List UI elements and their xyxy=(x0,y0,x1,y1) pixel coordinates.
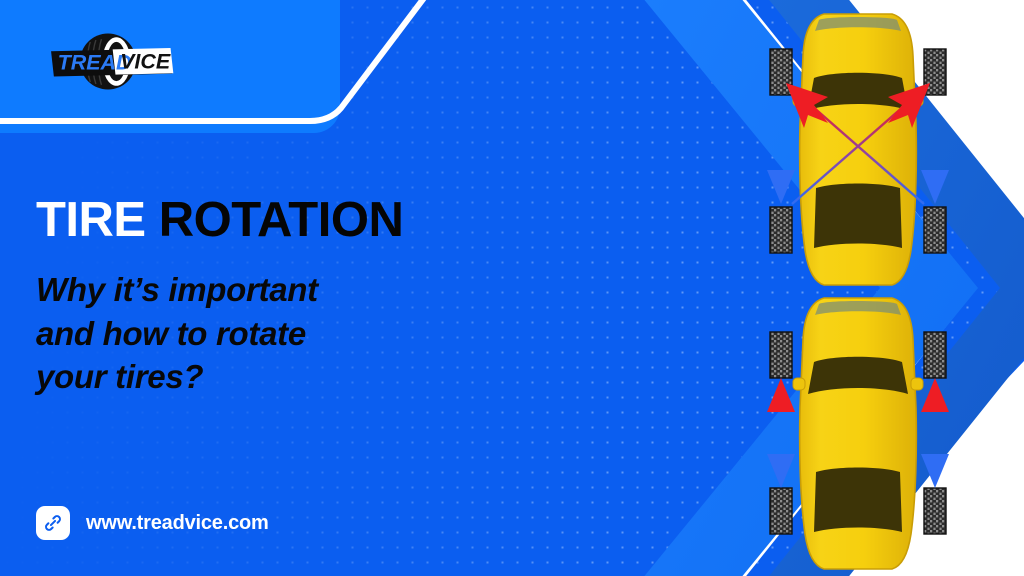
subtitle-line-1: Why it’s important xyxy=(36,268,476,312)
tire-rear-left xyxy=(770,207,792,253)
tire-rear-left xyxy=(770,488,792,534)
diagram-crossed-rotation xyxy=(762,4,1024,292)
page-subtitle: Why it’s important and how to rotate you… xyxy=(36,268,476,399)
tire-front-right xyxy=(924,332,946,378)
link-chain-icon xyxy=(36,506,70,540)
title-word-rotation: ROTATION xyxy=(159,193,404,247)
arrow-right-double-headed xyxy=(921,378,949,488)
brand-logo[interactable]: TREAD VICE xyxy=(38,26,178,98)
poster-canvas: TREAD VICE TIRE ROTATION Why it’s import… xyxy=(0,0,1024,576)
subtitle-line-3: your tires? xyxy=(36,355,476,399)
footer-website[interactable]: www.treadvice.com xyxy=(36,506,269,540)
page-title: TIRE ROTATION xyxy=(36,196,403,245)
car-top-view xyxy=(793,14,923,285)
car-top-view xyxy=(793,298,923,569)
arrow-right-straight-down xyxy=(921,96,949,204)
tire-rear-right xyxy=(924,488,946,534)
arrow-left-double-headed xyxy=(767,378,795,488)
arrow-left-straight-down xyxy=(767,96,795,204)
logo-text-vice: VICE xyxy=(120,50,171,74)
tire-rear-right xyxy=(924,207,946,253)
diagram-front-to-back-rotation xyxy=(762,290,1024,576)
tire-front-left xyxy=(770,332,792,378)
logo-wordmark: TREAD VICE xyxy=(51,48,173,76)
website-url-text: www.treadvice.com xyxy=(86,512,269,535)
subtitle-line-2: and how to rotate xyxy=(36,312,476,356)
title-word-tire: TIRE xyxy=(36,193,146,247)
